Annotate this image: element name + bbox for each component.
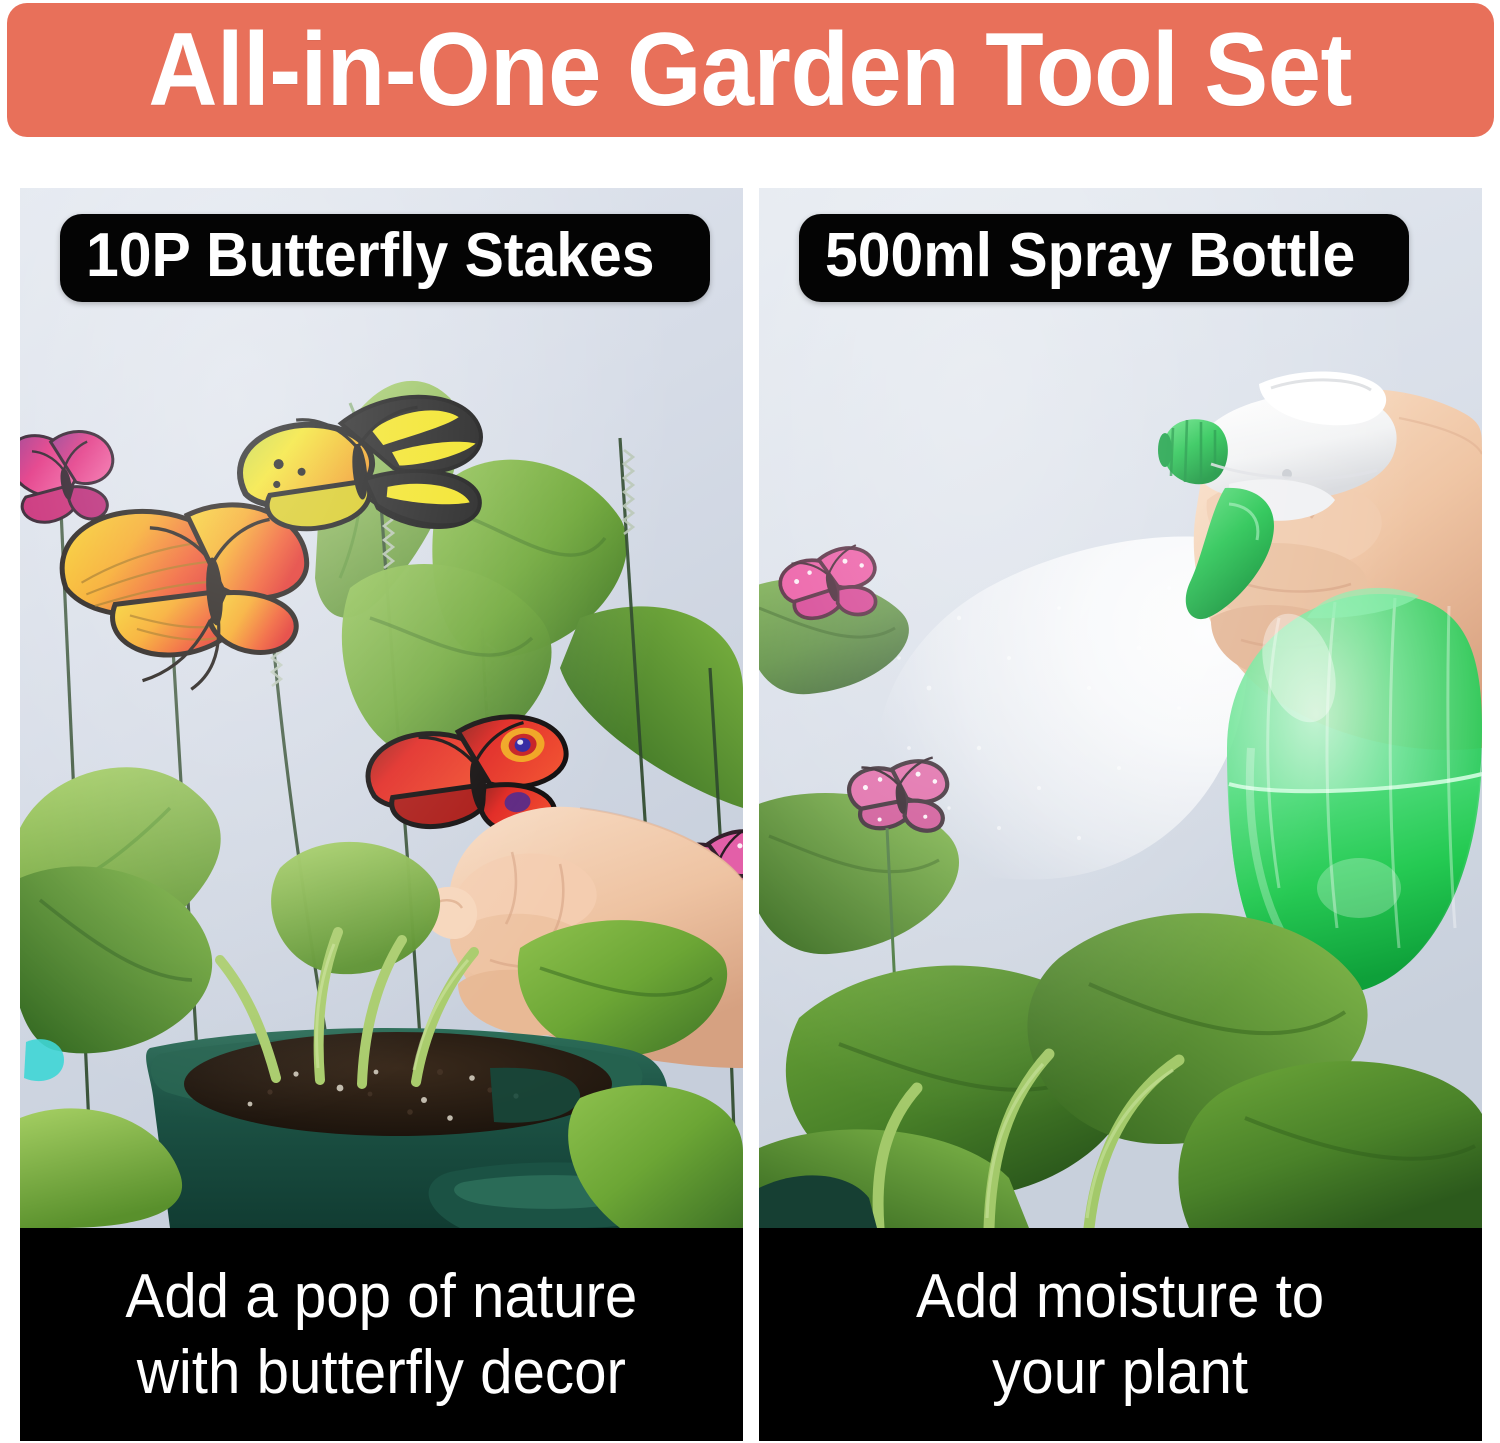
caption-text: Add a pop of nature with butterfly decor <box>126 1259 638 1410</box>
panel-spray-bottle: 500ml Spray Bottle Add moisture to your … <box>759 188 1482 1441</box>
product-infographic: All-in-One Garden Tool Set <box>0 0 1500 1443</box>
photo-butterfly-stakes: 10P Butterfly Stakes <box>20 188 743 1228</box>
spray-bottle-illustration <box>759 188 1482 1228</box>
panel-row: 10P Butterfly Stakes Add a pop of nature… <box>20 188 1482 1441</box>
panel-butterfly-stakes: 10P Butterfly Stakes Add a pop of nature… <box>20 188 743 1441</box>
header-banner: All-in-One Garden Tool Set <box>7 3 1494 137</box>
butterfly-stakes-illustration <box>20 188 743 1228</box>
caption-text: Add moisture to your plant <box>916 1259 1324 1410</box>
page-title: All-in-One Garden Tool Set <box>149 18 1353 122</box>
caption-butterfly-stakes: Add a pop of nature with butterfly decor <box>20 1228 743 1441</box>
badge-label: 10P Butterfly Stakes <box>86 225 655 287</box>
badge-label: 500ml Spray Bottle <box>825 225 1355 287</box>
badge-spray-bottle: 500ml Spray Bottle <box>799 214 1409 302</box>
photo-spray-bottle: 500ml Spray Bottle <box>759 188 1482 1228</box>
badge-butterfly-stakes: 10P Butterfly Stakes <box>60 214 710 302</box>
caption-spray-bottle: Add moisture to your plant <box>759 1228 1482 1441</box>
